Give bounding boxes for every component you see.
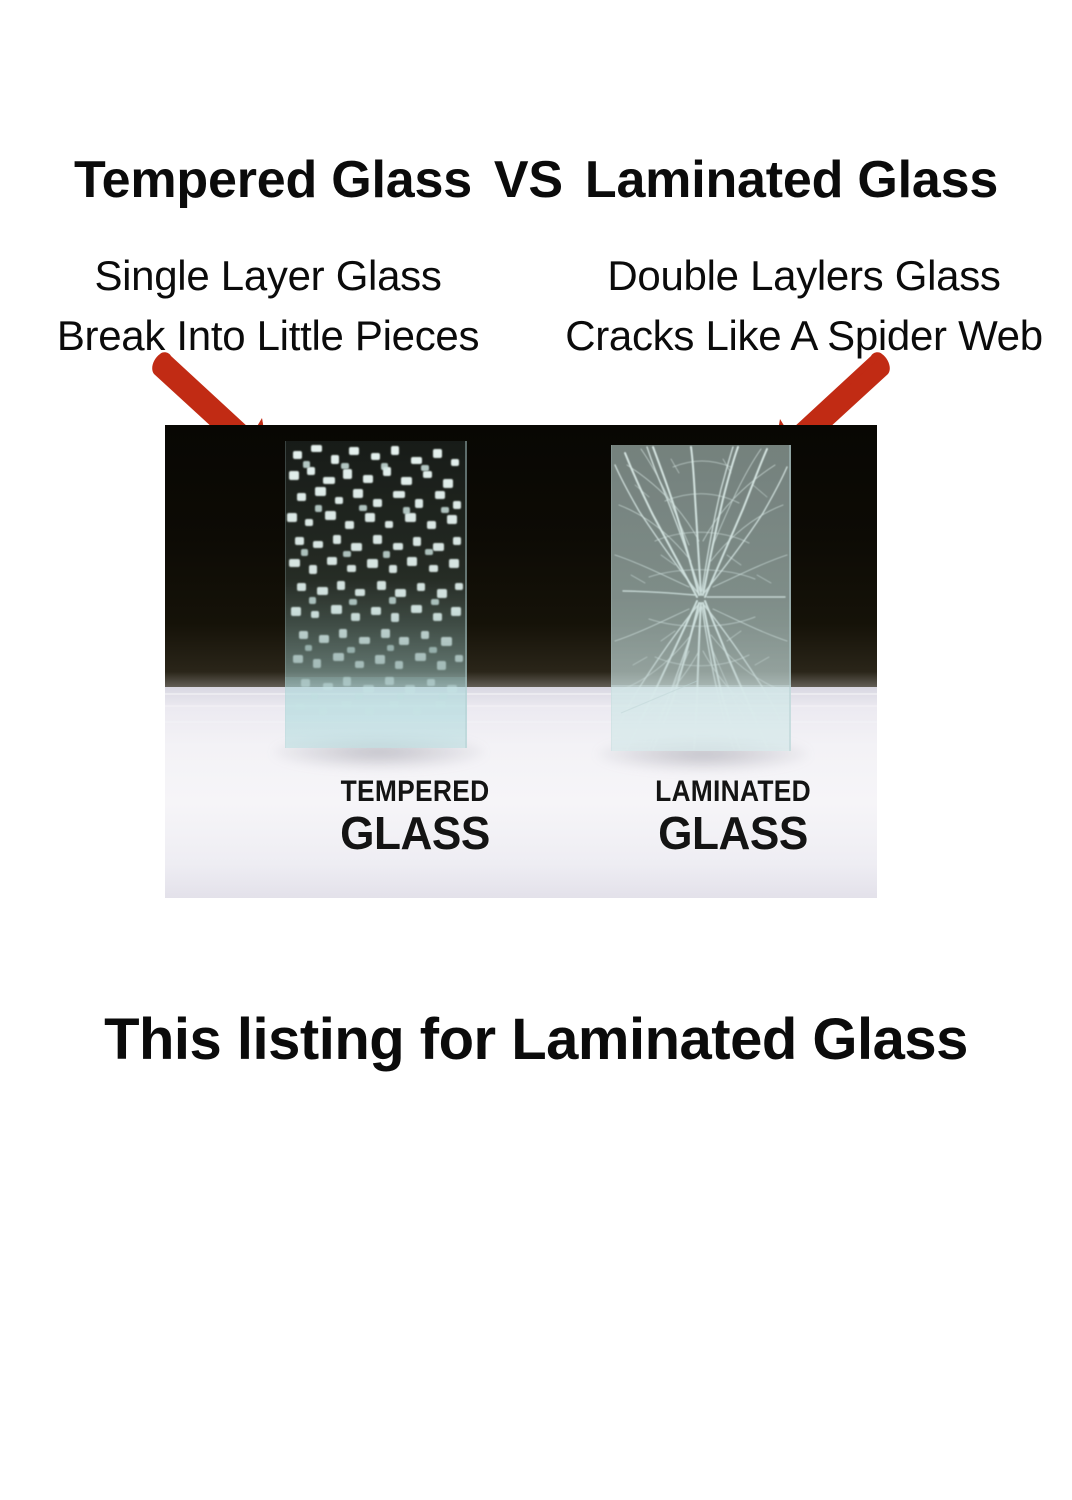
caption-tempered-word: TEMPERED bbox=[265, 777, 564, 807]
title-laminated-term: Laminated Glass bbox=[585, 151, 998, 209]
descriptor-row: Single Layer Glass Break Into Little Pie… bbox=[0, 246, 1072, 365]
laminated-glass-panel bbox=[611, 445, 791, 751]
descriptor-column-laminated: Double Laylers Glass Cracks Like A Spide… bbox=[536, 246, 1072, 365]
comparison-infographic: Tempered GlassVSLaminated Glass Single L… bbox=[0, 0, 1072, 1500]
title-vs-label: VS bbox=[494, 151, 563, 209]
page-title: Tempered GlassVSLaminated Glass bbox=[0, 150, 1072, 210]
photo-caption-laminated: LAMINATED GLASS bbox=[563, 777, 877, 856]
photo-caption-tempered: TEMPERED GLASS bbox=[245, 777, 585, 856]
caption-tempered-glass-word: GLASS bbox=[252, 810, 578, 856]
descriptor-column-tempered: Single Layer Glass Break Into Little Pie… bbox=[0, 246, 536, 365]
glass-comparison-photo: TEMPERED GLASS LAMINATED GLASS bbox=[165, 425, 877, 898]
tempered-descriptor-line-1: Single Layer Glass bbox=[0, 246, 536, 306]
title-tempered-term: Tempered Glass bbox=[74, 151, 472, 209]
caption-laminated-glass-word: GLASS bbox=[570, 810, 877, 856]
tempered-glass-panel bbox=[285, 441, 467, 748]
listing-statement: This listing for Laminated Glass bbox=[0, 1006, 1072, 1073]
caption-laminated-word: LAMINATED bbox=[583, 777, 877, 807]
laminated-descriptor-line-1: Double Laylers Glass bbox=[536, 246, 1072, 306]
